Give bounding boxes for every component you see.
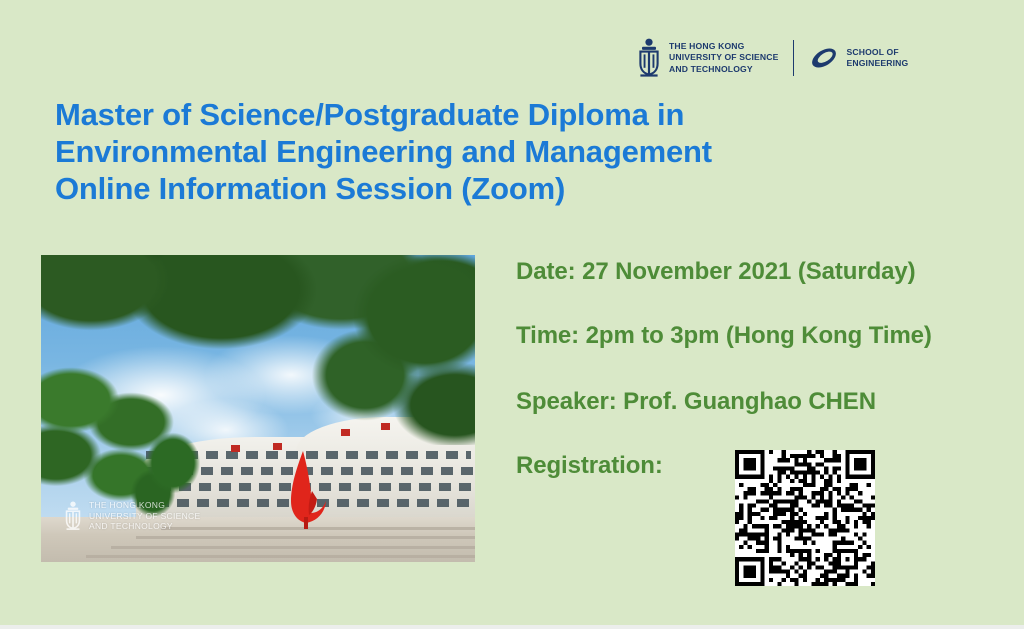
event-time: Time: 2pm to 3pm (Hong Kong Time): [516, 322, 1016, 350]
photo-tree-canopy-right: [305, 255, 475, 445]
logo-lockup: THE HONG KONG UNIVERSITY OF SCIENCE AND …: [636, 36, 908, 80]
page-title: Master of Science/Postgraduate Diploma i…: [55, 96, 855, 207]
poster-canvas: THE HONG KONG UNIVERSITY OF SCIENCE AND …: [0, 0, 1024, 625]
photo-plaza-step: [111, 546, 475, 549]
photo-plaza-step: [136, 536, 475, 539]
event-details: Date: 27 November 2021 (Saturday) Time: …: [516, 258, 1016, 480]
photo-watermark-text: THE HONG KONG UNIVERSITY OF SCIENCE AND …: [89, 500, 200, 532]
campus-photo: THE HONG KONG UNIVERSITY OF SCIENCE AND …: [41, 255, 475, 562]
photo-watermark-line-2: UNIVERSITY OF SCIENCE: [89, 511, 200, 522]
photo-watermark: THE HONG KONG UNIVERSITY OF SCIENCE AND …: [63, 500, 200, 532]
photo-watermark-line-1: THE HONG KONG: [89, 500, 200, 511]
event-date: Date: 27 November 2021 (Saturday): [516, 258, 1016, 286]
photo-building-accent: [273, 443, 282, 450]
page-title-line-3: Online Information Session (Zoom): [55, 170, 855, 207]
page-title-line-1: Master of Science/Postgraduate Diploma i…: [55, 96, 855, 133]
logo-divider: [793, 40, 794, 76]
school-of-engineering-wordmark: SCHOOL OF ENGINEERING: [846, 47, 908, 69]
registration-qr-code[interactable]: [735, 450, 875, 586]
photo-building-accent: [231, 445, 240, 452]
bottom-strip: [0, 625, 1024, 629]
hkust-logo-line-2: UNIVERSITY OF SCIENCE: [669, 52, 778, 63]
hkust-logo-line-3: AND TECHNOLOGY: [669, 64, 778, 75]
photo-plaza-step: [86, 555, 475, 558]
school-of-engineering-logo: SCHOOL OF ENGINEERING: [809, 42, 908, 74]
hkust-shield-icon: [636, 38, 662, 78]
event-speaker: Speaker: Prof. Guanghao CHEN: [516, 388, 1016, 416]
hkust-logo-wordmark: THE HONG KONG UNIVERSITY OF SCIENCE AND …: [669, 41, 778, 75]
photo-watermark-line-3: AND TECHNOLOGY: [89, 521, 200, 532]
hkust-shield-icon: [63, 501, 83, 531]
soe-logo-line-1: SCHOOL OF: [846, 47, 908, 58]
school-of-engineering-ellipse-icon: [809, 42, 839, 74]
photo-fire-bird-sculpture: [279, 451, 333, 529]
page-title-line-2: Environmental Engineering and Management: [55, 133, 855, 170]
hkust-logo: THE HONG KONG UNIVERSITY OF SCIENCE AND …: [636, 38, 778, 78]
hkust-logo-line-1: THE HONG KONG: [669, 41, 778, 52]
registration-label: Registration:: [516, 452, 663, 480]
qr-code-canvas[interactable]: [735, 450, 875, 586]
soe-logo-line-2: ENGINEERING: [846, 58, 908, 69]
